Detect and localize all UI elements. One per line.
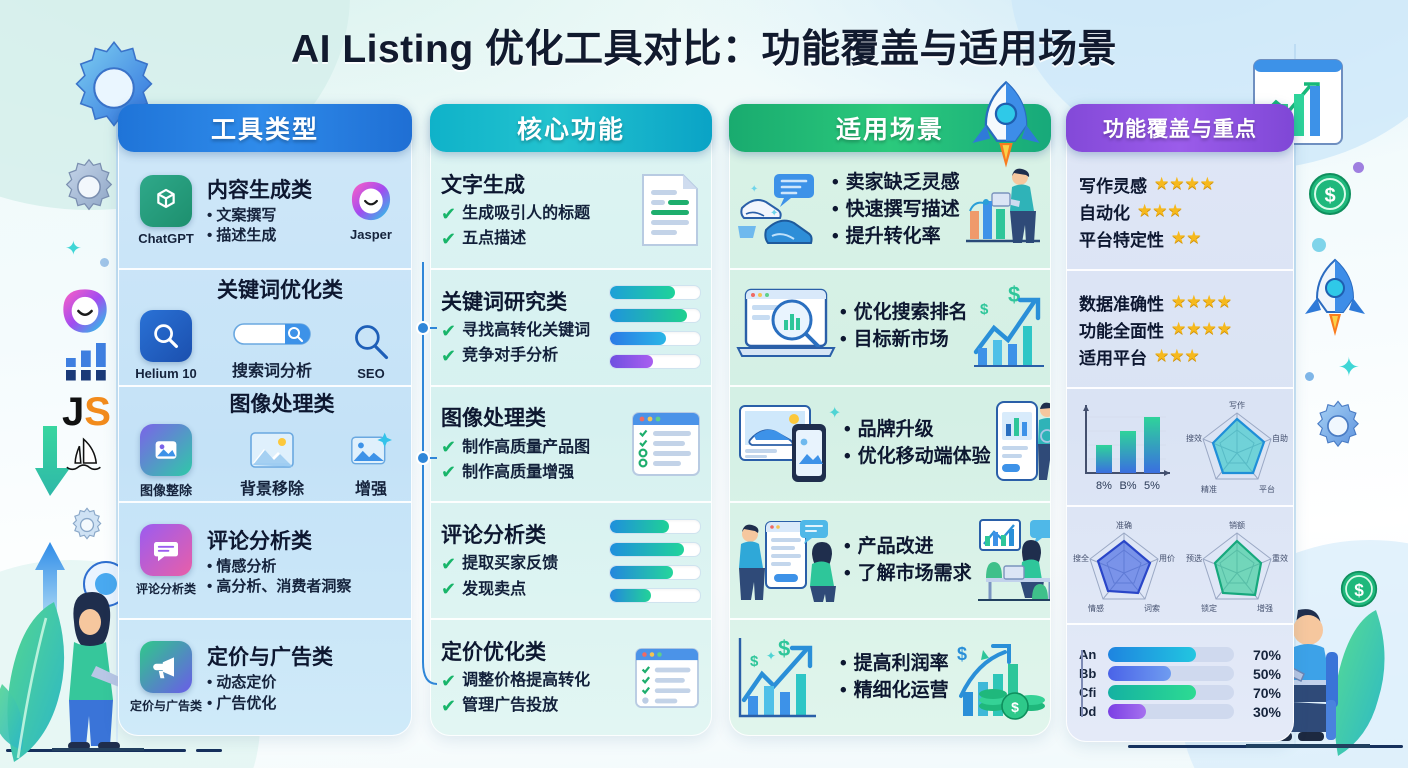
decorative-dot bbox=[1305, 372, 1314, 381]
svg-text:锁定: 锁定 bbox=[1201, 603, 1217, 613]
tool-icon-group[interactable]: 背景移除 bbox=[229, 431, 315, 499]
tool-icon-label: SEO bbox=[357, 366, 384, 381]
section-keyword-optimization[interactable]: 关键词优化类 Helium 10 bbox=[119, 268, 411, 385]
usecase-bullet: 快速撰写描述 bbox=[832, 197, 960, 224]
tool-icon-group[interactable]: Helium 10 bbox=[127, 310, 205, 381]
check-icon: ✔ bbox=[441, 319, 456, 344]
star-rating: ★★★ bbox=[1137, 201, 1183, 221]
image-edit-icon[interactable] bbox=[140, 424, 192, 476]
section-content-generation[interactable]: ChatGPT 内容生成类 • 文案撰写 • 描述生成 bbox=[119, 153, 411, 268]
page-title: AI Listing 优化工具对比：功能覆盖与适用场景 bbox=[0, 18, 1408, 74]
browser-checklist-icon bbox=[631, 411, 701, 477]
section-usecase-3[interactable]: ✦ 品牌升级 优化移动端体验 bbox=[730, 385, 1050, 502]
rating-row: 功能全面性 ★★★★ bbox=[1079, 317, 1281, 342]
column-core-features: 文字生成 ✔生成吸引人的标题 ✔五点描述 bbox=[430, 104, 712, 736]
helium10-icon[interactable] bbox=[140, 310, 192, 362]
background-remove-icon[interactable] bbox=[249, 431, 295, 469]
star-rating: ★★ bbox=[1171, 228, 1201, 248]
star-rating: ★★★★ bbox=[1154, 174, 1215, 194]
chatgpt-icon[interactable] bbox=[140, 175, 192, 227]
tool-icon-group[interactable]: 搜索词分析 bbox=[224, 321, 320, 381]
svg-text:✦: ✦ bbox=[750, 184, 758, 195]
section-usecase-1[interactable]: ✦ ✦ 卖家缺乏灵感 快速撰写描述 提升转化率 bbox=[730, 153, 1050, 268]
bar-chart-icon bbox=[64, 340, 110, 382]
svg-text:自助: 自助 bbox=[1272, 433, 1288, 443]
comment-icon[interactable] bbox=[140, 524, 192, 576]
tool-icon-group[interactable]: SEO bbox=[339, 322, 403, 381]
progress-bar bbox=[609, 285, 701, 300]
rating-row: 写作灵感 ★★★★ bbox=[1079, 172, 1281, 197]
rating-label: 写作灵感 bbox=[1079, 172, 1147, 197]
bar-growth-icon: $ $ ✦ bbox=[736, 634, 836, 722]
mobile-analytics-icon bbox=[995, 400, 1051, 488]
metric-value: 50% bbox=[1241, 666, 1281, 682]
tool-icon-label: ChatGPT bbox=[138, 231, 194, 246]
metric-value: 70% bbox=[1241, 685, 1281, 701]
section-heading: 图像处理类 bbox=[441, 402, 631, 432]
progress-bar bbox=[609, 542, 701, 557]
section-image-processing[interactable]: 图像处理类 图像整除 bbox=[119, 385, 411, 502]
svg-text:搜效: 搜效 bbox=[1186, 433, 1202, 443]
svg-text:$: $ bbox=[957, 644, 967, 664]
document-icon bbox=[639, 172, 701, 248]
column-coverage-focus: 写作灵感 ★★★★ 自动化 ★★★ 平台特定性 ★★ bbox=[1066, 104, 1294, 742]
svg-text:写作: 写作 bbox=[1229, 400, 1245, 410]
two-people-review-icon bbox=[736, 518, 840, 604]
svg-text:✦: ✦ bbox=[766, 649, 776, 663]
svg-text:B%: B% bbox=[1119, 480, 1136, 492]
progress-bar bbox=[609, 565, 701, 580]
person-chart-icon bbox=[964, 167, 1044, 253]
tool-icon-label: 增强 bbox=[355, 475, 387, 499]
sparkle-icon: ✦ bbox=[1338, 352, 1360, 383]
shoes-chat-icon: ✦ ✦ bbox=[736, 170, 828, 250]
column-body: ✦ ✦ 卖家缺乏灵感 快速撰写描述 提升转化率 bbox=[729, 104, 1051, 736]
rating-label: 适用平台 bbox=[1079, 344, 1147, 369]
section-heading: 关键词优化类 bbox=[127, 274, 403, 304]
svg-text:$: $ bbox=[1324, 185, 1335, 207]
progress-bar bbox=[609, 308, 701, 323]
rating-label: 平台特定性 bbox=[1079, 226, 1164, 251]
baseline-left-dash bbox=[196, 749, 222, 752]
tool-icon-group[interactable]: 增强 bbox=[339, 431, 403, 499]
seo-magnifier-icon[interactable] bbox=[351, 322, 391, 362]
gear-icon bbox=[68, 506, 106, 544]
metric-bar bbox=[1108, 647, 1234, 662]
svg-text:情感: 情感 bbox=[1088, 603, 1104, 613]
rating-label: 自动化 bbox=[1079, 199, 1130, 224]
section-dual-radar-charts[interactable]: 准确 用价 词索 情感 搜全 bbox=[1067, 505, 1293, 623]
metric-row: An 70% bbox=[1079, 647, 1281, 663]
usecase-bullet: 品牌升级 bbox=[844, 417, 991, 444]
tool-icon-group[interactable]: ChatGPT bbox=[127, 175, 205, 246]
metric-bar bbox=[1108, 685, 1234, 700]
section-heading: 内容生成类 bbox=[207, 174, 339, 204]
star-rating: ★★★★ bbox=[1171, 292, 1232, 312]
check-icon: ✔ bbox=[441, 694, 456, 719]
usecase-bullet: 产品改进 bbox=[844, 534, 972, 561]
svg-text:精准: 精准 bbox=[1201, 484, 1217, 494]
column-header-coverage-focus[interactable]: 功能覆盖与重点 bbox=[1066, 104, 1294, 152]
check-icon: ✔ bbox=[441, 669, 456, 694]
progress-bar-group bbox=[609, 519, 701, 603]
feature-item: ✔寻找高转化关键词 bbox=[441, 319, 609, 344]
usecase-bullet: 提升转化率 bbox=[832, 224, 960, 251]
tool-icon-group[interactable]: 评论分析类 bbox=[127, 524, 205, 597]
feature-item: ✔管理广告投放 bbox=[441, 694, 633, 719]
bullet-item: • 文案撰写 bbox=[207, 206, 339, 226]
tool-icon-label: 搜索词分析 bbox=[232, 357, 312, 381]
decorative-dot bbox=[100, 258, 109, 267]
browser-checklist-icon bbox=[633, 647, 701, 709]
svg-text:8%: 8% bbox=[1096, 480, 1112, 492]
usecase-bullet: 精细化运营 bbox=[840, 678, 949, 705]
section-review-analysis[interactable]: 评论分析类 ✔提取买家反馈 ✔发现卖点 bbox=[431, 501, 711, 618]
feature-item: ✔生成吸引人的标题 bbox=[441, 202, 639, 227]
feature-item: ✔五点描述 bbox=[441, 227, 639, 252]
rating-row: 数据准确性 ★★★★ bbox=[1079, 290, 1281, 315]
tool-icon-label: 图像整除 bbox=[140, 480, 192, 499]
check-icon: ✔ bbox=[441, 202, 456, 227]
bullet-item: • 情感分析 bbox=[207, 557, 403, 577]
tool-icon-label: 定价与广告类 bbox=[130, 697, 202, 714]
svg-text:$: $ bbox=[980, 301, 989, 318]
svg-text:5%: 5% bbox=[1144, 480, 1160, 492]
sparkle-icon: ✦ bbox=[65, 236, 82, 261]
sail-icon bbox=[64, 436, 106, 476]
column-header-core-features[interactable]: 核心功能 bbox=[430, 104, 712, 152]
bullet-item: • 动态定价 bbox=[207, 673, 403, 693]
usecase-bullet: 优化移动端体验 bbox=[844, 444, 991, 471]
section-heading: 定价与广告类 bbox=[207, 641, 403, 671]
feature-item: ✔提取买家反馈 bbox=[441, 552, 609, 577]
column-header-tool-type[interactable]: 工具类型 bbox=[118, 104, 412, 152]
column-body: 写作灵感 ★★★★ 自动化 ★★★ 平台特定性 ★★ bbox=[1066, 104, 1294, 742]
bullet-item: • 描述生成 bbox=[207, 226, 339, 246]
search-bar-icon[interactable] bbox=[233, 321, 311, 347]
section-heading: 评论分析类 bbox=[207, 525, 403, 555]
check-icon: ✔ bbox=[441, 460, 456, 485]
usecase-bullet: 了解市场需求 bbox=[844, 561, 972, 588]
usecase-bullet: 优化搜索排名 bbox=[840, 300, 968, 327]
bullet-item: • 广告优化 bbox=[207, 694, 403, 714]
svg-text:词索: 词索 bbox=[1144, 603, 1160, 613]
section-heading: 图像处理类 bbox=[127, 388, 403, 418]
svg-text:$: $ bbox=[1008, 282, 1020, 307]
rating-row: 平台特定性 ★★ bbox=[1079, 226, 1281, 251]
desk-analytics-icon bbox=[976, 518, 1051, 604]
svg-text:销额: 销额 bbox=[1229, 520, 1245, 530]
tool-icon-label: Helium 10 bbox=[135, 366, 196, 381]
section-ratings-1[interactable]: 写作灵感 ★★★★ 自动化 ★★★ 平台特定性 ★★ bbox=[1067, 153, 1293, 269]
section-pricing-advertising[interactable]: 定价与广告类 定价与广告类 • 动态定价 • 广告优化 bbox=[119, 618, 411, 735]
section-metric-bars[interactable]: An 70% Bb 50% Cfi 70% bbox=[1067, 623, 1293, 741]
check-icon: ✔ bbox=[441, 227, 456, 252]
section-usecase-4[interactable]: 产品改进 了解市场需求 bbox=[730, 501, 1050, 618]
feature-item: ✔发现卖点 bbox=[441, 577, 609, 602]
tool-icon-group[interactable]: 定价与广告类 bbox=[127, 641, 205, 714]
metric-value: 70% bbox=[1241, 647, 1281, 663]
svg-text:✦: ✦ bbox=[770, 208, 778, 219]
progress-bar bbox=[609, 519, 701, 534]
progress-bar bbox=[609, 588, 701, 603]
section-usecase-2[interactable]: 优化搜索排名 目标新市场 $ $ bbox=[730, 268, 1050, 385]
usecase-bullet: 提高利润率 bbox=[840, 651, 949, 678]
star-rating: ★★★★ bbox=[1171, 319, 1232, 339]
star-rating: ★★★ bbox=[1154, 346, 1200, 366]
svg-text:搜全: 搜全 bbox=[1073, 553, 1089, 563]
svg-text:平台: 平台 bbox=[1259, 484, 1275, 494]
section-bar-radar-charts[interactable]: 8% B% 5% 写作 自助 bbox=[1067, 387, 1293, 505]
feature-item: ✔制作高质量产品图 bbox=[441, 435, 631, 460]
svg-text:用价: 用价 bbox=[1159, 554, 1175, 563]
section-review-analysis[interactable]: 评论分析类 评论分析类 • 情感分析 • 高分析、消费者洞察 bbox=[119, 501, 411, 618]
progress-bar-group bbox=[609, 285, 701, 369]
metric-axis bbox=[1081, 650, 1083, 717]
feature-item: ✔竞争对手分析 bbox=[441, 344, 609, 369]
progress-bar bbox=[609, 331, 701, 346]
bullet-item: • 高分析、消费者洞察 bbox=[207, 577, 403, 597]
radar-chart: 销额 重效 增强 锁定 预选 bbox=[1185, 517, 1289, 613]
section-image-processing[interactable]: 图像处理类 ✔制作高质量产品图 ✔制作高质量增强 bbox=[431, 385, 711, 502]
metric-bar bbox=[1108, 704, 1234, 719]
section-heading: 定价优化类 bbox=[441, 636, 633, 666]
rating-label: 功能全面性 bbox=[1079, 317, 1164, 342]
dollar-coin-icon: $ bbox=[1308, 172, 1352, 216]
column-tool-type: ChatGPT 内容生成类 • 文案撰写 • 描述生成 bbox=[118, 104, 412, 736]
radar-chart: 准确 用价 词索 情感 搜全 bbox=[1072, 517, 1176, 613]
check-icon: ✔ bbox=[441, 577, 456, 602]
usecase-bullet: 卖家缺乏灵感 bbox=[832, 170, 960, 197]
section-keyword-research[interactable]: 关键词研究类 ✔寻找高转化关键词 ✔竞争对手分析 bbox=[431, 268, 711, 385]
svg-text:增强: 增强 bbox=[1257, 603, 1273, 613]
rocket-icon bbox=[1302, 258, 1368, 338]
decorative-dot bbox=[1312, 238, 1326, 252]
laptop-search-icon bbox=[736, 286, 836, 368]
progress-bar bbox=[609, 354, 701, 369]
feature-item: ✔制作高质量增强 bbox=[441, 460, 631, 485]
section-ratings-2[interactable]: 数据准确性 ★★★★ 功能全面性 ★★★★ 适用平台 ★★★ bbox=[1067, 269, 1293, 387]
tool-icon-group[interactable]: Jasper bbox=[339, 179, 403, 242]
section-heading: 文字生成 bbox=[441, 169, 639, 199]
rating-label: 数据准确性 bbox=[1079, 290, 1164, 315]
check-icon: ✔ bbox=[441, 435, 456, 460]
metric-row: Dd 30% bbox=[1079, 704, 1281, 720]
section-usecase-5[interactable]: $ $ ✦ 提高利润率 精 bbox=[730, 618, 1050, 735]
rating-row: 自动化 ★★★ bbox=[1079, 199, 1281, 224]
column-connector bbox=[409, 262, 437, 702]
metric-value: 30% bbox=[1241, 704, 1281, 720]
product-mobile-icon: ✦ bbox=[736, 402, 840, 486]
tool-icon-group[interactable]: 图像整除 bbox=[127, 424, 205, 499]
rocket-icon bbox=[969, 80, 1043, 170]
feature-item: ✔调整价格提高转化 bbox=[441, 669, 633, 694]
column-body: ChatGPT 内容生成类 • 文案撰写 • 描述生成 bbox=[118, 104, 412, 736]
section-pricing-optimization[interactable]: 定价优化类 ✔调整价格提高转化 ✔管理广告投放 bbox=[431, 618, 711, 735]
svg-text:✦: ✦ bbox=[828, 405, 840, 422]
column-use-cases: ✦ ✦ 卖家缺乏灵感 快速撰写描述 提升转化率 bbox=[729, 104, 1051, 736]
svg-text:$: $ bbox=[750, 653, 759, 670]
tool-icon-label: 评论分析类 bbox=[136, 580, 196, 597]
bar-chart: 8% B% 5% bbox=[1072, 397, 1176, 497]
check-icon: ✔ bbox=[441, 344, 456, 369]
metric-bar bbox=[1108, 666, 1234, 681]
jasper-icon bbox=[60, 286, 110, 336]
rating-row: 适用平台 ★★★ bbox=[1079, 344, 1281, 369]
svg-text:$: $ bbox=[1011, 699, 1019, 715]
growth-arrow-icon: $ $ bbox=[972, 282, 1048, 372]
decorative-dot bbox=[1353, 162, 1364, 173]
tool-icon-label: 背景移除 bbox=[240, 475, 304, 499]
metric-row: Cfi 70% bbox=[1079, 685, 1281, 701]
radar-chart: 写作 自助 平台 精准 搜效 bbox=[1185, 397, 1289, 497]
infographic-canvas: ✦ JS bbox=[0, 0, 1408, 768]
tool-icon-label: Jasper bbox=[350, 227, 392, 242]
megaphone-icon[interactable] bbox=[140, 641, 192, 693]
coins-growth-icon: $ bbox=[953, 634, 1049, 722]
section-heading: 关键词研究类 bbox=[441, 286, 609, 316]
svg-text:预选: 预选 bbox=[1186, 553, 1202, 563]
gear-icon bbox=[1310, 398, 1366, 454]
check-icon: ✔ bbox=[441, 552, 456, 577]
section-heading: 评论分析类 bbox=[441, 519, 609, 549]
gear-icon bbox=[58, 156, 120, 218]
svg-text:重效: 重效 bbox=[1272, 553, 1288, 563]
enhance-icon[interactable] bbox=[350, 431, 392, 469]
usecase-bullet: 目标新市场 bbox=[840, 327, 968, 354]
section-text-generation[interactable]: 文字生成 ✔生成吸引人的标题 ✔五点描述 bbox=[431, 153, 711, 268]
svg-text:准确: 准确 bbox=[1116, 520, 1132, 530]
svg-text:$: $ bbox=[778, 636, 790, 661]
metric-row: Bb 50% bbox=[1079, 666, 1281, 682]
jasper-icon[interactable] bbox=[349, 179, 393, 223]
column-body: 文字生成 ✔生成吸引人的标题 ✔五点描述 bbox=[430, 104, 712, 736]
